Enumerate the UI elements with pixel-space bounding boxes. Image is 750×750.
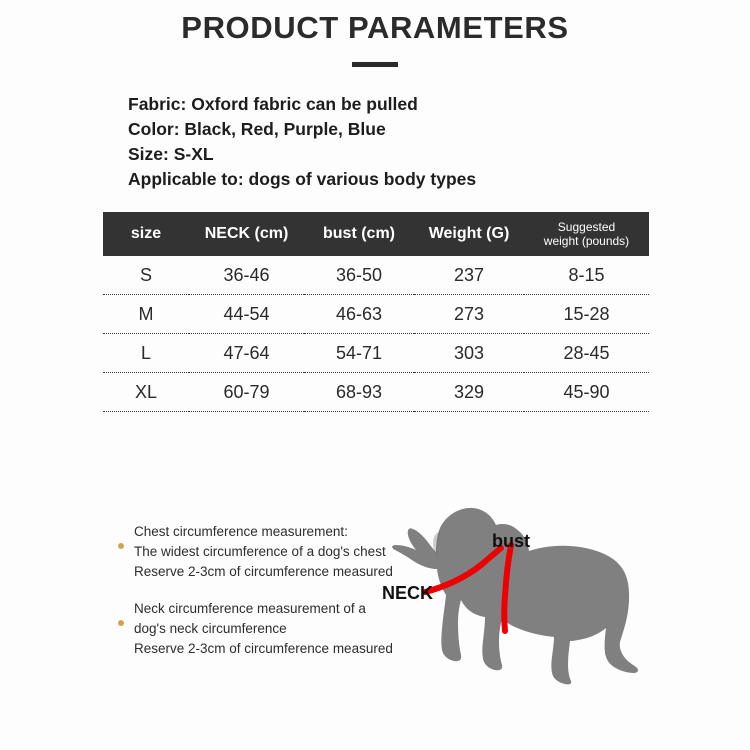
table-header: size NECK (cm) bust (cm) Weight (G) Sugg… <box>103 212 649 256</box>
cell-neck: 36-46 <box>189 256 304 295</box>
note-neck-line3: Reserve 2-3cm of circumference measured <box>134 639 408 659</box>
note-chest-line1: Chest circumference measurement: <box>134 522 408 542</box>
spec-line-applicable: Applicable to: dogs of various body type… <box>128 167 648 192</box>
note-neck-line1: Neck circumference measurement of a <box>134 599 408 619</box>
note-chest-line3: Reserve 2-3cm of circumference measured <box>134 562 408 582</box>
size-table-wrapper: size NECK (cm) bust (cm) Weight (G) Sugg… <box>103 212 649 412</box>
table-row: M 44-54 46-63 273 15-28 <box>103 295 649 334</box>
title-divider <box>352 62 398 67</box>
table-row: XL 60-79 68-93 329 45-90 <box>103 373 649 412</box>
cell-size: S <box>103 256 189 295</box>
cell-suggested: 28-45 <box>524 334 649 373</box>
cell-bust: 46-63 <box>304 295 414 334</box>
cell-bust: 54-71 <box>304 334 414 373</box>
table-row: L 47-64 54-71 303 28-45 <box>103 334 649 373</box>
table-body: S 36-46 36-50 237 8-15 M 44-54 46-63 273… <box>103 256 649 412</box>
cell-bust: 68-93 <box>304 373 414 412</box>
bullet-icon <box>118 543 124 549</box>
cell-neck: 44-54 <box>189 295 304 334</box>
cell-bust: 36-50 <box>304 256 414 295</box>
spec-line-size: Size: S-XL <box>128 142 648 167</box>
cell-size: L <box>103 334 189 373</box>
note-block-neck: Neck circumference measurement of a dog'… <box>118 599 408 659</box>
note-block-chest: Chest circumference measurement: The wid… <box>118 522 408 582</box>
page-title: PRODUCT PARAMETERS <box>0 10 750 46</box>
cell-weight: 329 <box>414 373 524 412</box>
label-bust: bust <box>492 531 530 552</box>
column-header-bust: bust (cm) <box>304 212 414 256</box>
cell-suggested: 15-28 <box>524 295 649 334</box>
cell-neck: 47-64 <box>189 334 304 373</box>
cell-weight: 273 <box>414 295 524 334</box>
spec-line-fabric: Fabric: Oxford fabric can be pulled <box>128 92 648 117</box>
spec-line-color: Color: Black, Red, Purple, Blue <box>128 117 648 142</box>
note-neck-line2: dog's neck circumference <box>134 619 408 639</box>
column-header-suggested-line1: Suggested <box>524 220 649 234</box>
size-table: size NECK (cm) bust (cm) Weight (G) Sugg… <box>103 212 649 412</box>
label-neck: NECK <box>382 583 433 604</box>
note-chest-line2: The widest circumference of a dog's ches… <box>134 542 408 562</box>
cell-size: XL <box>103 373 189 412</box>
table-header-row: size NECK (cm) bust (cm) Weight (G) Sugg… <box>103 212 649 256</box>
spec-list: Fabric: Oxford fabric can be pulled Colo… <box>128 92 648 192</box>
table-row: S 36-46 36-50 237 8-15 <box>103 256 649 295</box>
cell-neck: 60-79 <box>189 373 304 412</box>
cell-suggested: 8-15 <box>524 256 649 295</box>
column-header-neck: NECK (cm) <box>189 212 304 256</box>
column-header-suggested-line2: weight (pounds) <box>524 234 649 248</box>
column-header-size: size <box>103 212 189 256</box>
cell-size: M <box>103 295 189 334</box>
measurement-notes: Chest circumference measurement: The wid… <box>118 522 408 676</box>
cell-suggested: 45-90 <box>524 373 649 412</box>
cell-weight: 237 <box>414 256 524 295</box>
bullet-icon <box>118 620 124 626</box>
column-header-suggested-weight: Suggested weight (pounds) <box>524 212 649 256</box>
column-header-weight: Weight (G) <box>414 212 524 256</box>
cell-weight: 303 <box>414 334 524 373</box>
